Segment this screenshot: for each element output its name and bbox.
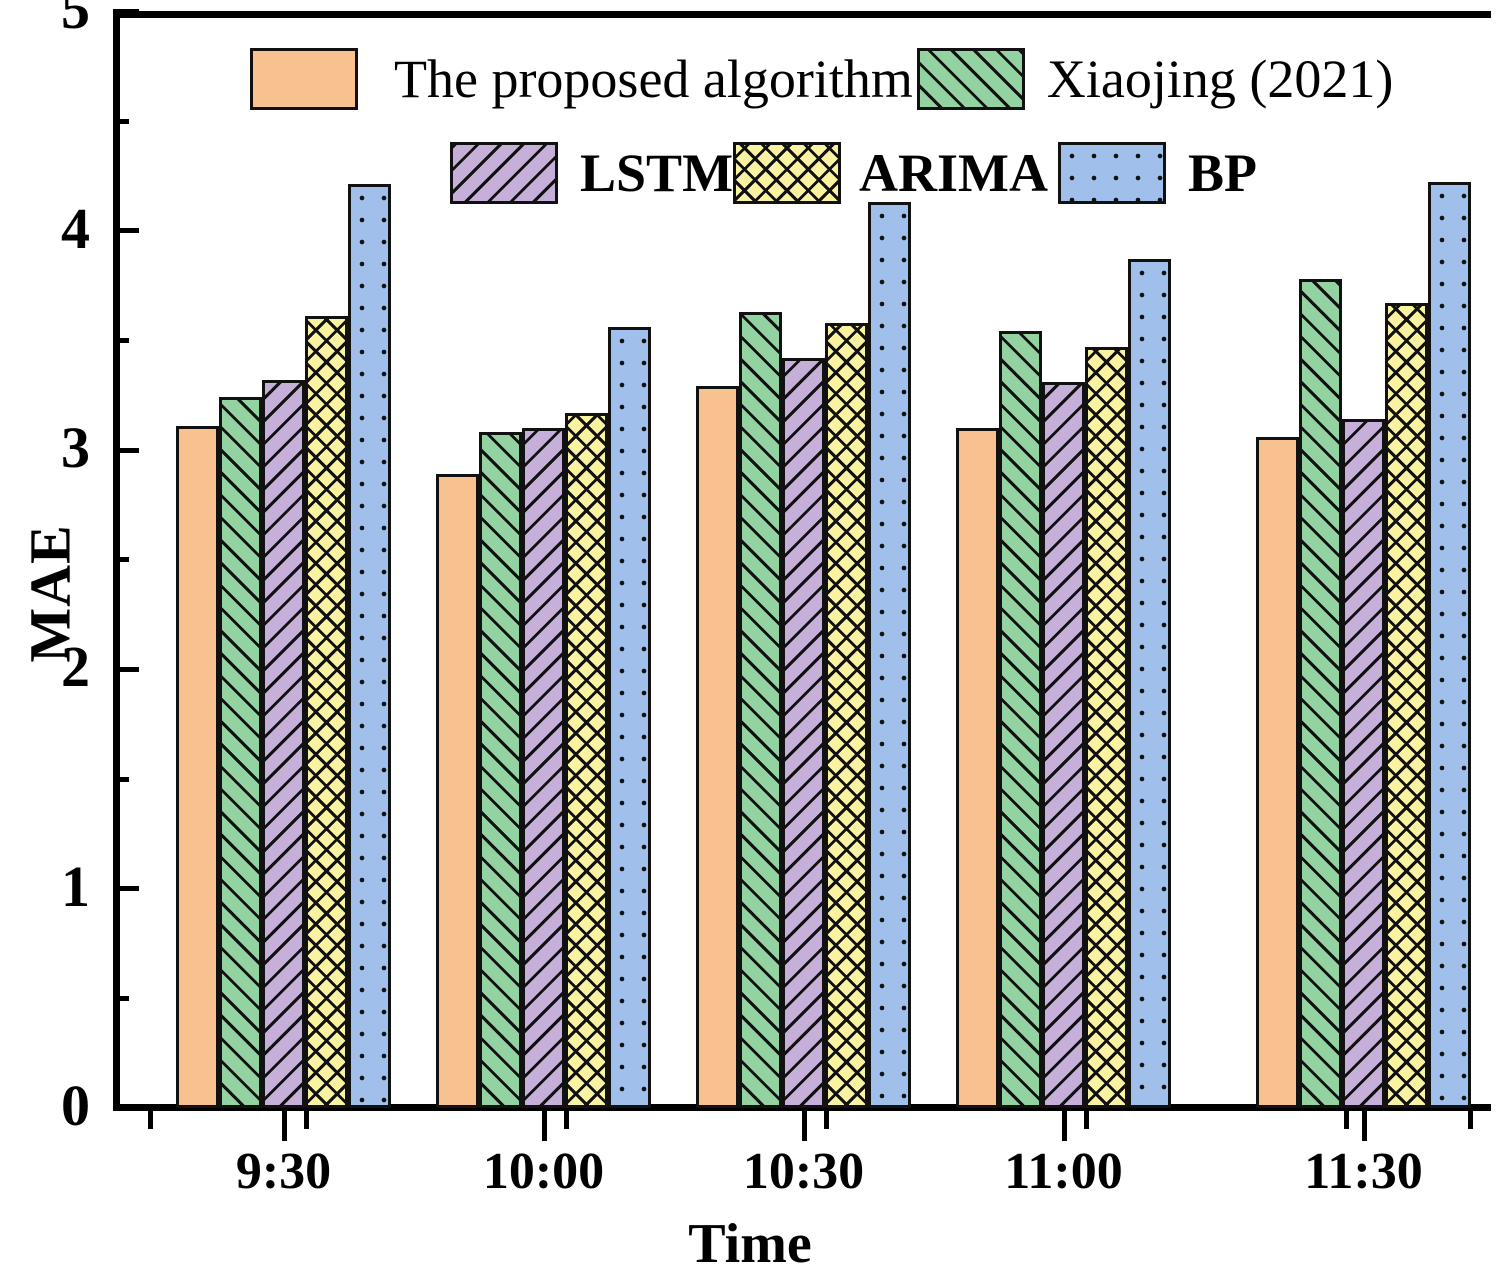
x-tick-label-11-00: 11:00 xyxy=(954,1142,1174,1201)
x-tick-minor xyxy=(1344,1111,1349,1129)
bar-11-30-xiaojing-2021[interactable] xyxy=(1299,279,1342,1108)
legend-row-1: The proposed algorithm Xiaojing (2021) xyxy=(250,48,1393,110)
bar-10-30-lstm[interactable] xyxy=(782,358,825,1108)
x-tick-major xyxy=(802,1111,807,1141)
legend-label-bp: BP xyxy=(1188,142,1257,204)
bar-11-00-the-proposed-algorithm[interactable] xyxy=(956,428,999,1108)
bar-11-30-bp[interactable] xyxy=(1428,182,1471,1108)
legend-label-lstm: LSTM xyxy=(580,142,733,204)
x-tick-minor xyxy=(564,1111,569,1129)
y-tick-label-1: 1 xyxy=(20,858,90,916)
bar-10-00-bp[interactable] xyxy=(608,327,651,1108)
chart-canvas: MAE 5 4 3 2 1 0 9:3010:0010:3011:0011:30… xyxy=(0,0,1500,1287)
bar-11-30-lstm[interactable] xyxy=(1342,419,1385,1108)
bar-9-30-bp[interactable] xyxy=(348,184,391,1108)
legend-item-bp[interactable]: BP xyxy=(1058,142,1257,204)
bar-11-30-the-proposed-algorithm[interactable] xyxy=(1256,437,1299,1108)
bar-9-30-arima[interactable] xyxy=(305,316,348,1108)
bar-9-30-xiaojing-2021[interactable] xyxy=(219,397,262,1108)
bar-10-30-the-proposed-algorithm[interactable] xyxy=(696,386,739,1108)
bar-11-30-arima[interactable] xyxy=(1385,303,1428,1108)
bar-11-00-bp[interactable] xyxy=(1128,259,1171,1108)
legend-item-proposed[interactable]: The proposed algorithm xyxy=(250,48,913,110)
x-tick-label-11-30: 11:30 xyxy=(1254,1142,1474,1201)
legend-swatch-bp xyxy=(1058,142,1166,204)
x-tick-label-10-30: 10:30 xyxy=(694,1142,914,1201)
x-tick-minor xyxy=(824,1111,829,1129)
bar-9-30-the-proposed-algorithm[interactable] xyxy=(176,426,219,1108)
bar-10-00-the-proposed-algorithm[interactable] xyxy=(436,474,479,1108)
bar-11-00-arima[interactable] xyxy=(1085,347,1128,1108)
x-tick-major xyxy=(1062,1111,1067,1141)
legend-swatch-xiaojing xyxy=(917,48,1025,110)
bar-10-30-xiaojing-2021[interactable] xyxy=(739,312,782,1108)
legend: The proposed algorithm Xiaojing (2021) L… xyxy=(0,0,1500,220)
bar-11-00-lstm[interactable] xyxy=(1042,382,1085,1108)
y-tick-label-2: 2 xyxy=(20,638,90,696)
y-tick-label-3: 3 xyxy=(20,419,90,477)
x-tick-minor xyxy=(1468,1111,1473,1129)
bar-10-30-bp[interactable] xyxy=(868,202,911,1108)
legend-item-xiaojing[interactable]: Xiaojing (2021) xyxy=(917,48,1393,110)
x-tick-minor xyxy=(1084,1111,1089,1129)
legend-label-proposed: The proposed algorithm xyxy=(394,48,913,110)
legend-item-lstm[interactable]: LSTM xyxy=(450,142,733,204)
y-tick-label-0: 0 xyxy=(20,1077,90,1135)
bar-11-00-xiaojing-2021[interactable] xyxy=(999,331,1042,1108)
x-tick-minor xyxy=(304,1111,309,1129)
x-tick-label-9-30: 9:30 xyxy=(174,1142,394,1201)
bar-10-00-lstm[interactable] xyxy=(522,428,565,1108)
x-tick-label-10-00: 10:00 xyxy=(434,1142,654,1201)
bar-10-00-arima[interactable] xyxy=(565,413,608,1108)
legend-swatch-arima xyxy=(733,142,841,204)
bar-10-00-xiaojing-2021[interactable] xyxy=(479,432,522,1108)
x-tick-major xyxy=(542,1111,547,1141)
x-axis-title: Time xyxy=(0,1212,1500,1276)
x-tick-major xyxy=(1362,1111,1367,1141)
legend-row-2: LSTM ARIMA BP xyxy=(450,142,1257,204)
bar-9-30-lstm[interactable] xyxy=(262,380,305,1108)
legend-swatch-proposed xyxy=(250,48,358,110)
bar-10-30-arima[interactable] xyxy=(825,323,868,1108)
x-tick-minor xyxy=(148,1111,153,1129)
legend-label-xiaojing: Xiaojing (2021) xyxy=(1047,48,1393,110)
legend-item-arima[interactable]: ARIMA xyxy=(733,142,1048,204)
x-tick-major xyxy=(282,1111,287,1141)
legend-swatch-lstm xyxy=(450,142,558,204)
legend-label-arima: ARIMA xyxy=(859,142,1048,204)
